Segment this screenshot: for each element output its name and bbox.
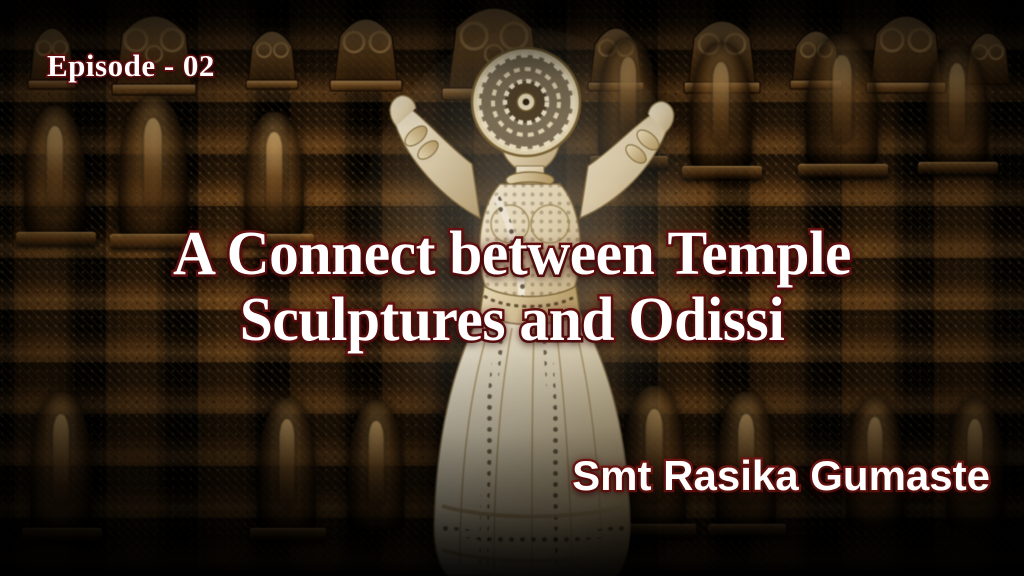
title-line-2: Sculptures and Odissi	[20, 288, 1003, 354]
page-title: A Connect between Temple Sculptures and …	[20, 222, 1003, 353]
presenter-name: Smt Rasika Gumaste	[572, 452, 990, 500]
title-line-1: A Connect between Temple	[20, 222, 1003, 288]
video-thumbnail-poster: Episode - 02 A Connect between Temple Sc…	[0, 0, 1024, 576]
episode-label: Episode - 02	[47, 48, 215, 84]
